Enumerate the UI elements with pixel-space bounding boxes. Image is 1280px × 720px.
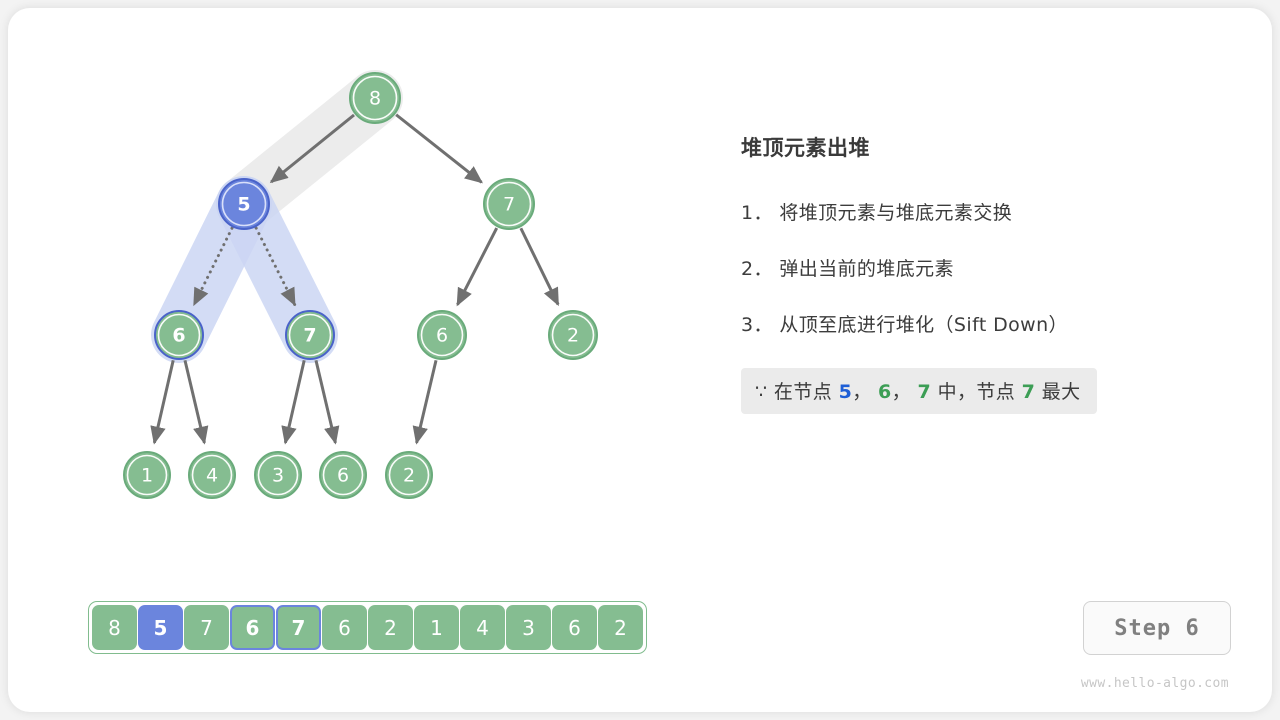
tree-node: 5 [219,179,269,229]
array-cell: 6 [322,605,367,650]
tree-node-label: 5 [237,194,250,216]
page-title: 堆顶元素出堆 [741,132,1221,162]
tree-node-label: 8 [369,88,381,110]
tree-node: 6 [418,311,466,359]
highlight-bands [179,98,375,335]
array-cell: 6 [230,605,275,650]
array-cell: 2 [368,605,413,650]
diagram-canvas: 857676214362 堆顶元素出堆 1． 将堆顶元素与堆底元素交换 2． 弹… [0,0,1280,720]
tree-node-label: 6 [337,465,349,487]
heap-array: 857676214362 [88,601,647,654]
tree-node-label: 7 [503,194,515,216]
tree-node: 8 [350,73,400,123]
tree-node-label: 2 [403,465,415,487]
array-cell: 7 [184,605,229,650]
conclusion-suffix: 最大 [1035,381,1080,403]
conclusion-callout: ∵ 在节点 5， 6， 7 中，节点 7 最大 [741,368,1097,414]
tree-node-label: 6 [172,325,185,347]
tree-node-label: 2 [567,325,579,347]
tree-node-label: 6 [436,325,448,347]
tree-node: 7 [286,311,334,359]
array-cell: 6 [552,605,597,650]
tree-edge [396,115,481,183]
tree-node: 2 [549,311,597,359]
tree-node: 3 [255,452,301,498]
tree-edge [457,228,496,305]
tree-node-label: 3 [272,465,284,487]
tree-node: 6 [320,452,366,498]
watermark: www.hello-algo.com [1071,676,1229,691]
step-badge: Step 6 [1083,601,1231,655]
array-cell: 3 [506,605,551,650]
conclusion-sep-1: ， [852,381,878,403]
array-cell: 5 [138,605,183,650]
tree-node-label: 1 [141,465,153,487]
conclusion-prefix: ∵ 在节点 [755,381,839,403]
tree-edge [521,228,558,304]
conclusion-value-4: 7 [1022,381,1036,403]
array-cell: 7 [276,605,321,650]
conclusion-value-3: 7 [918,381,932,403]
tree-node-label: 4 [206,465,218,487]
conclusion-middle: 中，节点 [931,381,1021,403]
step-line-2: 2． 弹出当前的堆底元素 [741,254,1221,281]
array-cell: 2 [598,605,643,650]
tree-edge [316,360,335,443]
tree-node: 1 [124,452,170,498]
array-cell: 4 [460,605,505,650]
tree-edge [417,360,436,443]
step-line-1: 1． 将堆顶元素与堆底元素交换 [741,198,1221,225]
conclusion-value-1: 5 [839,381,853,403]
tree-edge [185,360,204,443]
tree-node: 6 [155,311,203,359]
tree-node: 2 [386,452,432,498]
tree-edge [154,360,173,442]
tree-node-label: 7 [303,325,316,347]
step-line-3: 3． 从顶至底进行堆化（Sift Down） [741,310,1221,337]
conclusion-sep-2: ， [892,381,918,403]
tree-edge [285,360,304,442]
explanation-panel: 堆顶元素出堆 1． 将堆顶元素与堆底元素交换 2． 弹出当前的堆底元素 3． 从… [741,132,1221,414]
conclusion-value-2: 6 [878,381,892,403]
array-cell: 1 [414,605,459,650]
tree-node: 7 [484,179,534,229]
tree-node: 4 [189,452,235,498]
array-cell: 8 [92,605,137,650]
